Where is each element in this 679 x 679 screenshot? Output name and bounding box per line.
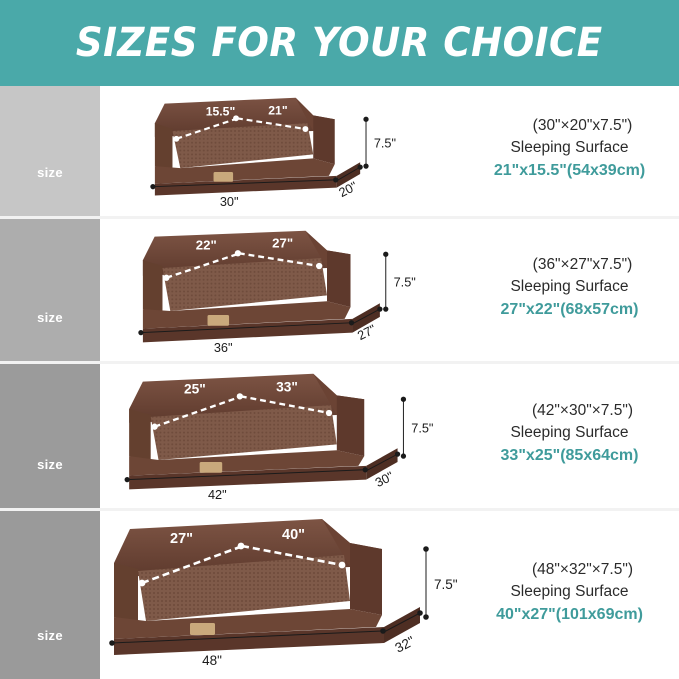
length-label: 42" <box>208 487 227 502</box>
inner-side-label: 22" <box>196 237 217 252</box>
bed-illustration: 27" 40" 48" 32" 7.5" <box>100 511 460 679</box>
bed-illustration: 25" 33" 42" 30" 7.5" <box>100 364 460 508</box>
bed-body <box>155 98 360 196</box>
table-row: size <box>0 219 679 364</box>
table-row: size <box>0 511 679 679</box>
inner-front-label: 27" <box>272 235 293 250</box>
size-swatch: size <box>0 364 100 508</box>
table-row: size <box>0 86 679 219</box>
sleeping-surface-label: Sleeping Surface <box>510 137 628 159</box>
height-label: 7.5" <box>374 137 396 151</box>
size-swatch: size <box>0 86 100 216</box>
size-text-block: (36"×27"x7.5") Sleeping Surface 27"x22"(… <box>460 219 679 361</box>
bed-body <box>129 374 397 490</box>
overall-dimensions: (36"×27"x7.5") <box>507 254 633 276</box>
overall-dimensions: (48"×32"×7.5") <box>506 559 633 581</box>
size-swatch: size <box>0 511 100 679</box>
sleeping-surface-dimensions: 27"x22"(68x57cm) <box>501 298 639 322</box>
size-text-block: (48"×32"×7.5") Sleeping Surface 40"x27"(… <box>460 511 679 679</box>
height-label: 7.5" <box>394 275 416 290</box>
depth-label: 32" <box>393 633 418 655</box>
length-label: 30" <box>220 195 239 209</box>
page-title: SIZES FOR YOUR CHOICE <box>76 20 603 66</box>
inner-front-label: 33" <box>276 379 298 394</box>
height-label: 7.5" <box>434 577 458 592</box>
length-label: 36" <box>214 340 233 355</box>
inner-side-label: 15.5" <box>206 104 236 118</box>
inner-side-label: 27" <box>170 531 193 547</box>
size-swatch-label: size <box>37 165 63 180</box>
size-swatch-label: size <box>37 310 63 325</box>
length-label: 48" <box>202 653 222 668</box>
size-swatch-label: size <box>37 457 63 472</box>
page-banner: SIZES FOR YOUR CHOICE <box>0 0 679 86</box>
overall-dimensions: (30"×20"x7.5") <box>507 115 633 137</box>
sleeping-surface-dimensions: 21"x15.5"(54x39cm) <box>494 159 645 183</box>
size-chart-page: SIZES FOR YOUR CHOICE size <box>0 0 679 679</box>
overall-dimensions: (42"×30"×7.5") <box>506 400 633 422</box>
size-text-block: (30"×20"x7.5") Sleeping Surface 21"x15.5… <box>460 86 679 216</box>
bed-body <box>143 231 380 343</box>
bed-body <box>114 519 420 655</box>
size-rows: size <box>0 86 679 679</box>
sleeping-surface-label: Sleeping Surface <box>510 581 628 603</box>
inner-side-label: 25" <box>184 381 206 396</box>
inner-front-label: 40" <box>282 527 305 543</box>
sleeping-surface-label: Sleeping Surface <box>510 276 628 298</box>
height-label: 7.5" <box>411 421 433 436</box>
sleeping-surface-dimensions: 40"x27"(101x69cm) <box>496 603 643 627</box>
size-swatch-label: size <box>37 628 63 643</box>
sleeping-surface-label: Sleeping Surface <box>510 422 628 444</box>
bed-illustration: 15.5" 21" 30" 20" 7.5" <box>100 86 460 216</box>
inner-front-label: 21" <box>268 103 287 117</box>
bed-illustration: 22" 27" 36" 27" 7.5" <box>100 219 460 361</box>
table-row: size <box>0 364 679 511</box>
size-swatch: size <box>0 219 100 361</box>
sleeping-surface-dimensions: 33"x25"(85x64cm) <box>501 444 639 468</box>
size-text-block: (42"×30"×7.5") Sleeping Surface 33"x25"(… <box>460 364 679 508</box>
